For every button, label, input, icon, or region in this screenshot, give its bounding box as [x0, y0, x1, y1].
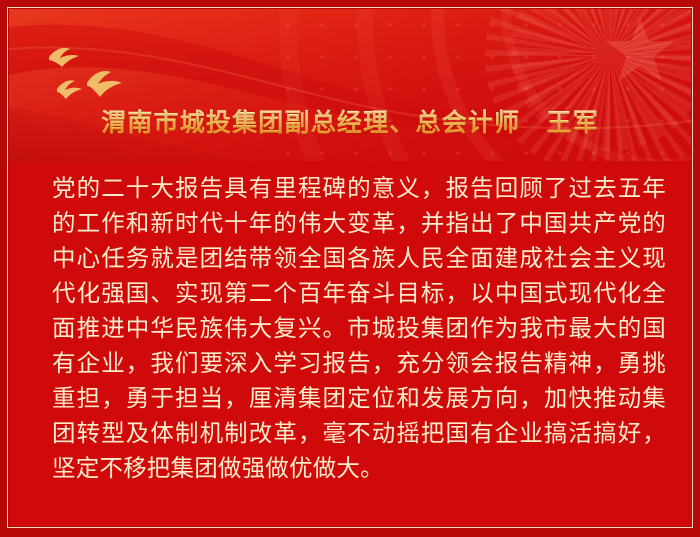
poster-stage: 渭南市城投集团副总经理、总会计师 王军 党的二十大报告具有里程碑的意义，报告回顾… — [9, 9, 691, 526]
five-pointed-star-icon — [603, 14, 677, 88]
peace-dove-icon — [35, 37, 155, 115]
page-title: 渭南市城投集团副总经理、总会计师 王军 — [9, 107, 691, 140]
poster-card: 渭南市城投集团副总经理、总会计师 王军 党的二十大报告具有里程碑的意义，报告回顾… — [0, 0, 700, 537]
body-paragraph: 党的二十大报告具有里程碑的意义，报告回顾了过去五年的工作和新时代十年的伟大变革，… — [52, 171, 666, 486]
